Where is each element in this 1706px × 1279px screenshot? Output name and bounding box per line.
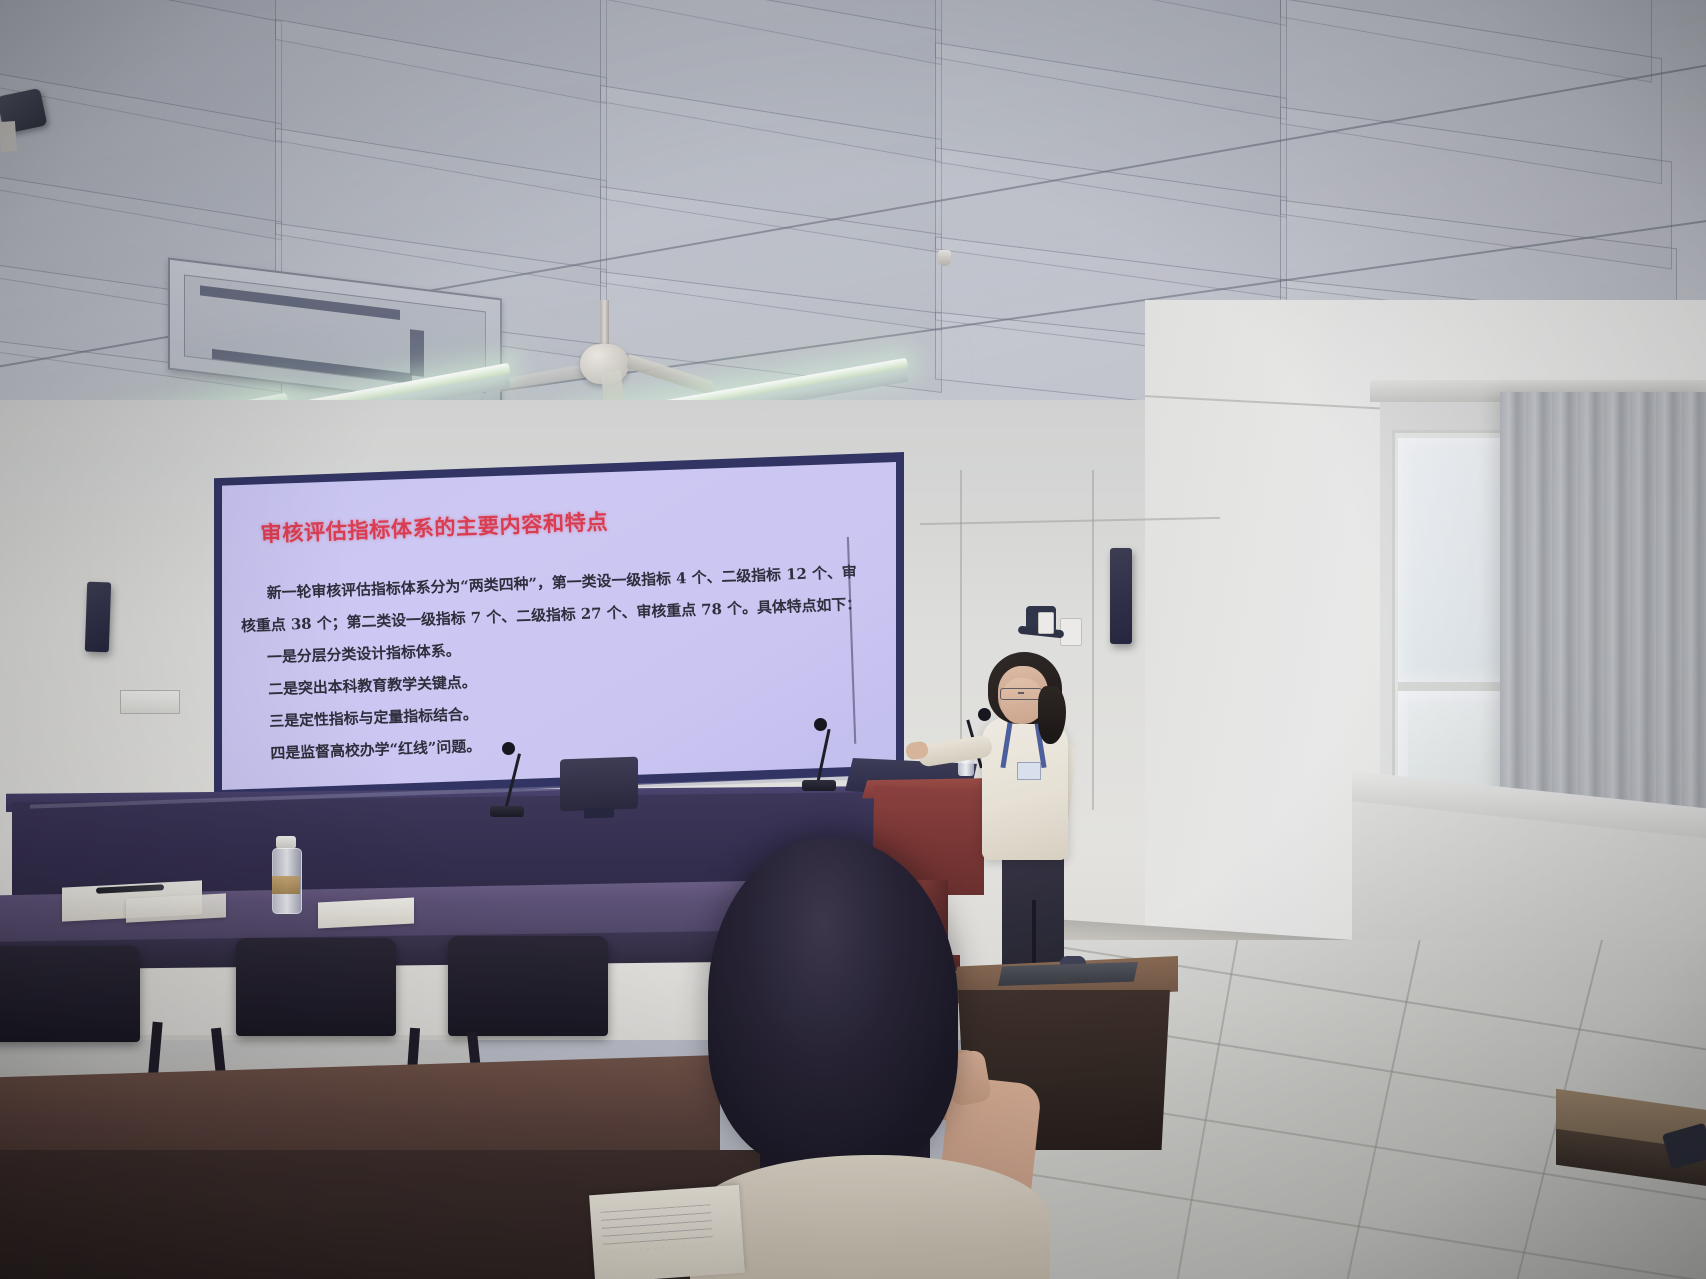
presenter-face xyxy=(1001,678,1043,724)
ceiling-fan-rod xyxy=(600,300,609,348)
sprinkler-head xyxy=(938,250,951,266)
audience-handout-text xyxy=(601,1204,714,1252)
glasses-icon xyxy=(1000,688,1042,700)
slide-content: 审核评估指标体系的主要内容和特点 新一轮审核评估指标体系分为“两类四种”，第一类… xyxy=(222,462,896,790)
water-bottle xyxy=(270,836,302,912)
conference-chair[interactable] xyxy=(448,936,608,1036)
slide-body: 新一轮审核评估指标体系分为“两类四种”，第一类设一级指标 4 个、二级指标 12… xyxy=(239,557,866,772)
desktop-monitor xyxy=(560,757,638,812)
wall-sign xyxy=(120,690,180,714)
lecture-room-photo: 审核评估指标体系的主要内容和特点 新一轮审核评估指标体系分为“两类四种”，第一类… xyxy=(0,0,1706,1279)
handout-paper xyxy=(318,897,414,928)
projection-screen[interactable]: 审核评估指标体系的主要内容和特点 新一轮审核评估指标体系分为“两类四种”，第一类… xyxy=(222,462,896,790)
window-glass-upper xyxy=(1398,438,1512,682)
window-mullion xyxy=(1398,682,1512,691)
wall-speaker xyxy=(85,582,111,653)
wall-speaker xyxy=(1110,548,1132,644)
audience-hair xyxy=(708,838,958,1168)
conference-chair[interactable] xyxy=(0,946,140,1042)
wall-socket xyxy=(1038,612,1054,634)
presenter-badge xyxy=(1017,762,1041,780)
conference-chair[interactable] xyxy=(236,938,396,1036)
slide-title: 审核评估指标体系的主要内容和特点 xyxy=(260,502,675,548)
